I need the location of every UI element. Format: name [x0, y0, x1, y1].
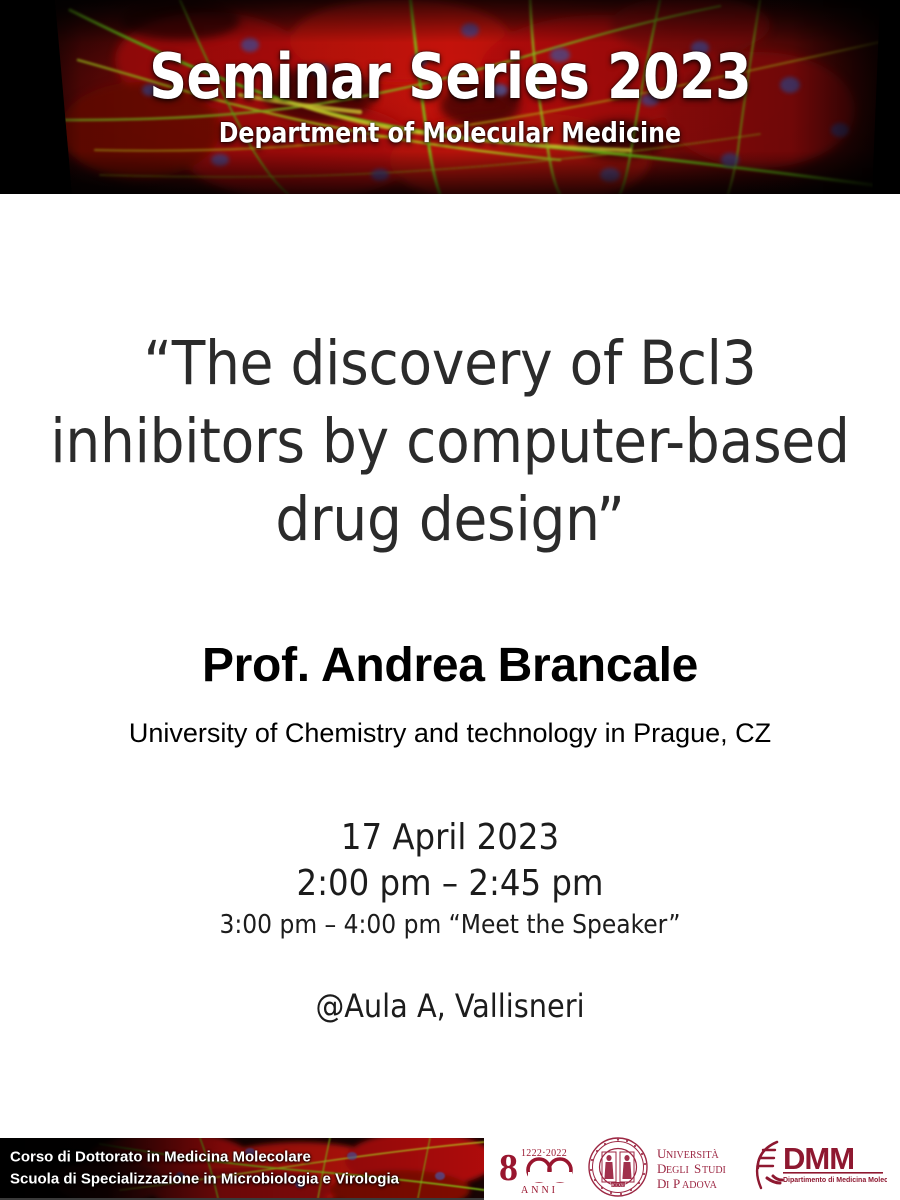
poster-main-content: “The discovery of Bcl3 inhibitors by com…	[0, 194, 900, 1134]
svg-text:Dipartimento di Medicina Molec: Dipartimento di Medicina Molecolare	[783, 1177, 887, 1184]
event-time-secondary: 3:00 pm – 4:00 pm “Meet the Speaker”	[0, 909, 900, 942]
event-date: 17 April 2023	[0, 815, 900, 861]
dna-helix-icon	[757, 1142, 782, 1188]
svg-text:ANNI: ANNI	[521, 1185, 558, 1196]
event-time-primary: 2:00 pm – 2:45 pm	[0, 861, 900, 907]
svg-text:MCCXXII: MCCXXII	[610, 1183, 626, 1187]
svg-text:P: P	[673, 1176, 680, 1191]
anniversary-800-logo: 8 1222·2022 ANNI	[495, 1136, 581, 1198]
footer-banner-text: Corso di Dottorato in Medicina Molecolar…	[10, 1146, 399, 1190]
svg-text:ADOVA: ADOVA	[682, 1180, 718, 1191]
svg-text:S: S	[694, 1161, 701, 1176]
event-details-block: 17 April 2023 2:00 pm – 2:45 pm 3:00 pm …	[0, 815, 900, 1026]
poster-footer: Corso di Dottorato in Medicina Molecolar…	[0, 1134, 900, 1200]
footer-programs-banner: Corso di Dottorato in Medicina Molecolar…	[0, 1138, 484, 1200]
svg-text:DMM: DMM	[783, 1141, 854, 1176]
svg-text:I: I	[666, 1180, 669, 1191]
dmm-department-logo: DMM Dipartimento di Medicina Molecolare	[747, 1136, 887, 1198]
svg-text:8: 8	[499, 1147, 518, 1189]
event-venue: @Aula A, Vallisneri	[0, 986, 900, 1026]
svg-text:D: D	[657, 1161, 666, 1176]
unipd-wordmark: UNIVERSITÀ DEGLI STUDI DI PADOVA	[655, 1136, 741, 1198]
department-subtitle: Department of Molecular Medicine	[219, 118, 681, 149]
svg-text:NIVERSITÀ: NIVERSITÀ	[666, 1149, 720, 1161]
speaker-affiliation: University of Chemistry and technology i…	[0, 717, 900, 749]
talk-title: “The discovery of Bcl3 inhibitors by com…	[0, 325, 900, 559]
poster-header: Seminar Series 2023 Department of Molecu…	[0, 0, 900, 194]
footer-logo-group: 8 1222·2022 ANNI	[495, 1134, 900, 1200]
seminar-series-title: Seminar Series 2023	[149, 45, 751, 108]
speaker-name: Prof. Andrea Brancale	[0, 640, 900, 693]
anniversary-years: 1222·2022	[521, 1148, 567, 1159]
phd-course-label: Corso di Dottorato in Medicina Molecolar…	[10, 1146, 399, 1168]
header-text-block: Seminar Series 2023 Department of Molecu…	[0, 0, 900, 194]
svg-text:TUDI: TUDI	[702, 1165, 726, 1176]
specialization-school-label: Scuola di Specializzazione in Microbiolo…	[10, 1168, 399, 1190]
svg-text:D: D	[657, 1176, 666, 1191]
svg-text:EGLI: EGLI	[666, 1165, 689, 1176]
unipd-seal-icon: MCCXXII	[587, 1136, 649, 1198]
